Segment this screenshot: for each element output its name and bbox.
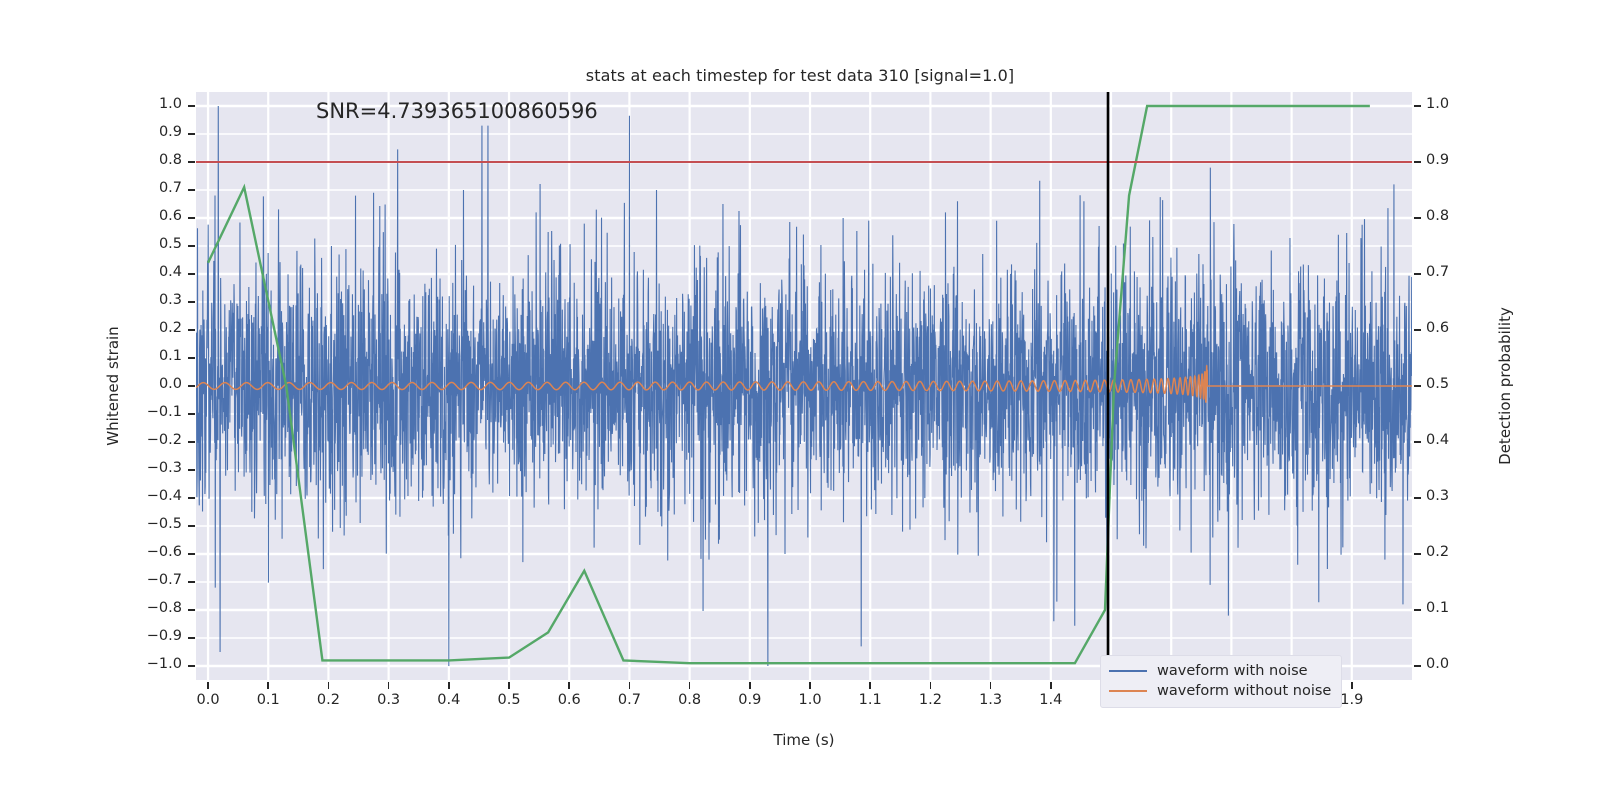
y-tick-mark-right [1414,329,1421,331]
legend-label-without-noise: waveform without noise [1157,683,1331,699]
y-tick-mark-left [188,553,195,555]
x-tick-label: 0.6 [547,692,591,708]
y-tick-label-left: −0.3 [130,460,182,476]
y-tick-mark-right [1414,161,1421,163]
x-tick-label: 0.9 [728,692,772,708]
x-tick-mark [267,682,269,689]
y-tick-label-left: −0.1 [130,404,182,420]
y-axis-label-left: Whitened strain [104,92,126,680]
y-axis-label-right: Detection probability [1496,92,1518,680]
x-tick-mark [749,682,751,689]
y-tick-label-right: 0.4 [1426,432,1449,448]
snr-annotation: SNR=4.739365100860596 [316,99,598,123]
legend-swatch-with-noise [1109,670,1147,673]
y-tick-label-left: −1.0 [130,656,182,672]
chart-title-text: stats at each timestep for test data 310… [586,66,1014,85]
y-tick-label-right: 0.3 [1426,488,1449,504]
legend-swatch-without-noise [1109,690,1147,693]
x-tick-mark [930,682,932,689]
y-tick-mark-left [188,665,195,667]
y-tick-label-left: 0.5 [130,236,182,252]
y-tick-label-left: 0.0 [130,376,182,392]
y-tick-label-left: −0.2 [130,432,182,448]
x-tick-label: 0.5 [487,692,531,708]
x-tick-mark [1050,682,1052,689]
x-axis-label: Time (s) [196,731,1412,749]
y-tick-label-left: 0.6 [130,208,182,224]
y-tick-label-right: 0.0 [1426,656,1449,672]
y-tick-label-left: 0.2 [130,320,182,336]
y-tick-mark-right [1414,441,1421,443]
y-tick-label-right: 0.5 [1426,376,1449,392]
y-tick-label-left: −0.5 [130,516,182,532]
y-tick-label-right: 0.1 [1426,600,1449,616]
x-tick-label: 0.7 [607,692,651,708]
y-tick-label-right: 0.2 [1426,544,1449,560]
legend-item[interactable]: waveform with noise [1109,661,1331,681]
x-tick-mark [629,682,631,689]
matplotlib-figure: stats at each timestep for test data 310… [0,0,1600,800]
y-tick-mark-left [188,609,195,611]
y-tick-mark-left [188,189,195,191]
y-tick-mark-right [1414,609,1421,611]
y-tick-label-right: 0.9 [1426,152,1449,168]
legend-label-with-noise: waveform with noise [1157,663,1308,679]
legend: waveform with noise waveform without noi… [1100,655,1342,708]
page-title: stats at each timestep for test data 310… [0,66,1600,85]
y-tick-label-right: 1.0 [1426,96,1449,112]
x-tick-mark [809,682,811,689]
x-tick-mark [1351,682,1353,689]
x-tick-label: 0.0 [186,692,230,708]
y-tick-label-left: 0.7 [130,180,182,196]
y-tick-label-left: −0.9 [130,628,182,644]
x-tick-label: 0.3 [367,692,411,708]
y-tick-label-left: −0.6 [130,544,182,560]
x-tick-label: 1.3 [969,692,1013,708]
x-tick-mark [568,682,570,689]
y-tick-mark-left [188,413,195,415]
y-tick-mark-right [1414,105,1421,107]
x-tick-mark [689,682,691,689]
y-tick-mark-right [1414,217,1421,219]
y-tick-mark-left [188,385,195,387]
x-tick-mark [508,682,510,689]
y-tick-mark-left [188,357,195,359]
x-tick-label: 0.8 [668,692,712,708]
y-tick-label-left: −0.8 [130,600,182,616]
y-tick-mark-right [1414,273,1421,275]
y-tick-label-right: 0.6 [1426,320,1449,336]
y-tick-mark-left [188,637,195,639]
x-tick-label: 1.1 [848,692,892,708]
x-tick-mark [990,682,992,689]
y-tick-label-right: 0.7 [1426,264,1449,280]
x-tick-label: 0.1 [246,692,290,708]
x-tick-mark [328,682,330,689]
y-tick-mark-left [188,329,195,331]
x-tick-label: 1.4 [1029,692,1073,708]
y-tick-label-right: 0.8 [1426,208,1449,224]
y-tick-mark-left [188,301,195,303]
y-tick-mark-left [188,133,195,135]
y-tick-label-left: 0.3 [130,292,182,308]
y-tick-mark-left [188,497,195,499]
x-tick-label: 0.4 [427,692,471,708]
y-tick-mark-left [188,273,195,275]
y-tick-mark-right [1414,385,1421,387]
y-tick-label-left: 0.8 [130,152,182,168]
y-tick-mark-left [188,581,195,583]
y-tick-mark-left [188,525,195,527]
y-tick-mark-left [188,217,195,219]
plot-area [196,92,1412,680]
y-tick-mark-right [1414,665,1421,667]
y-tick-label-left: 0.1 [130,348,182,364]
y-tick-label-left: 0.4 [130,264,182,280]
x-tick-mark [448,682,450,689]
y-tick-mark-left [188,441,195,443]
x-tick-label: 1.0 [788,692,832,708]
y-tick-mark-left [188,161,195,163]
plot-canvas [196,92,1412,680]
x-tick-mark [207,682,209,689]
legend-item[interactable]: waveform without noise [1109,681,1331,701]
y-tick-label-left: −0.7 [130,572,182,588]
x-tick-mark [869,682,871,689]
y-tick-mark-left [188,105,195,107]
y-tick-mark-right [1414,553,1421,555]
y-tick-label-left: −0.4 [130,488,182,504]
y-tick-label-left: 0.9 [130,124,182,140]
y-tick-mark-left [188,469,195,471]
x-tick-label: 1.2 [908,692,952,708]
y-tick-mark-right [1414,497,1421,499]
x-tick-mark [388,682,390,689]
y-tick-label-left: 1.0 [130,96,182,112]
x-tick-label: 0.2 [306,692,350,708]
y-tick-mark-left [188,245,195,247]
